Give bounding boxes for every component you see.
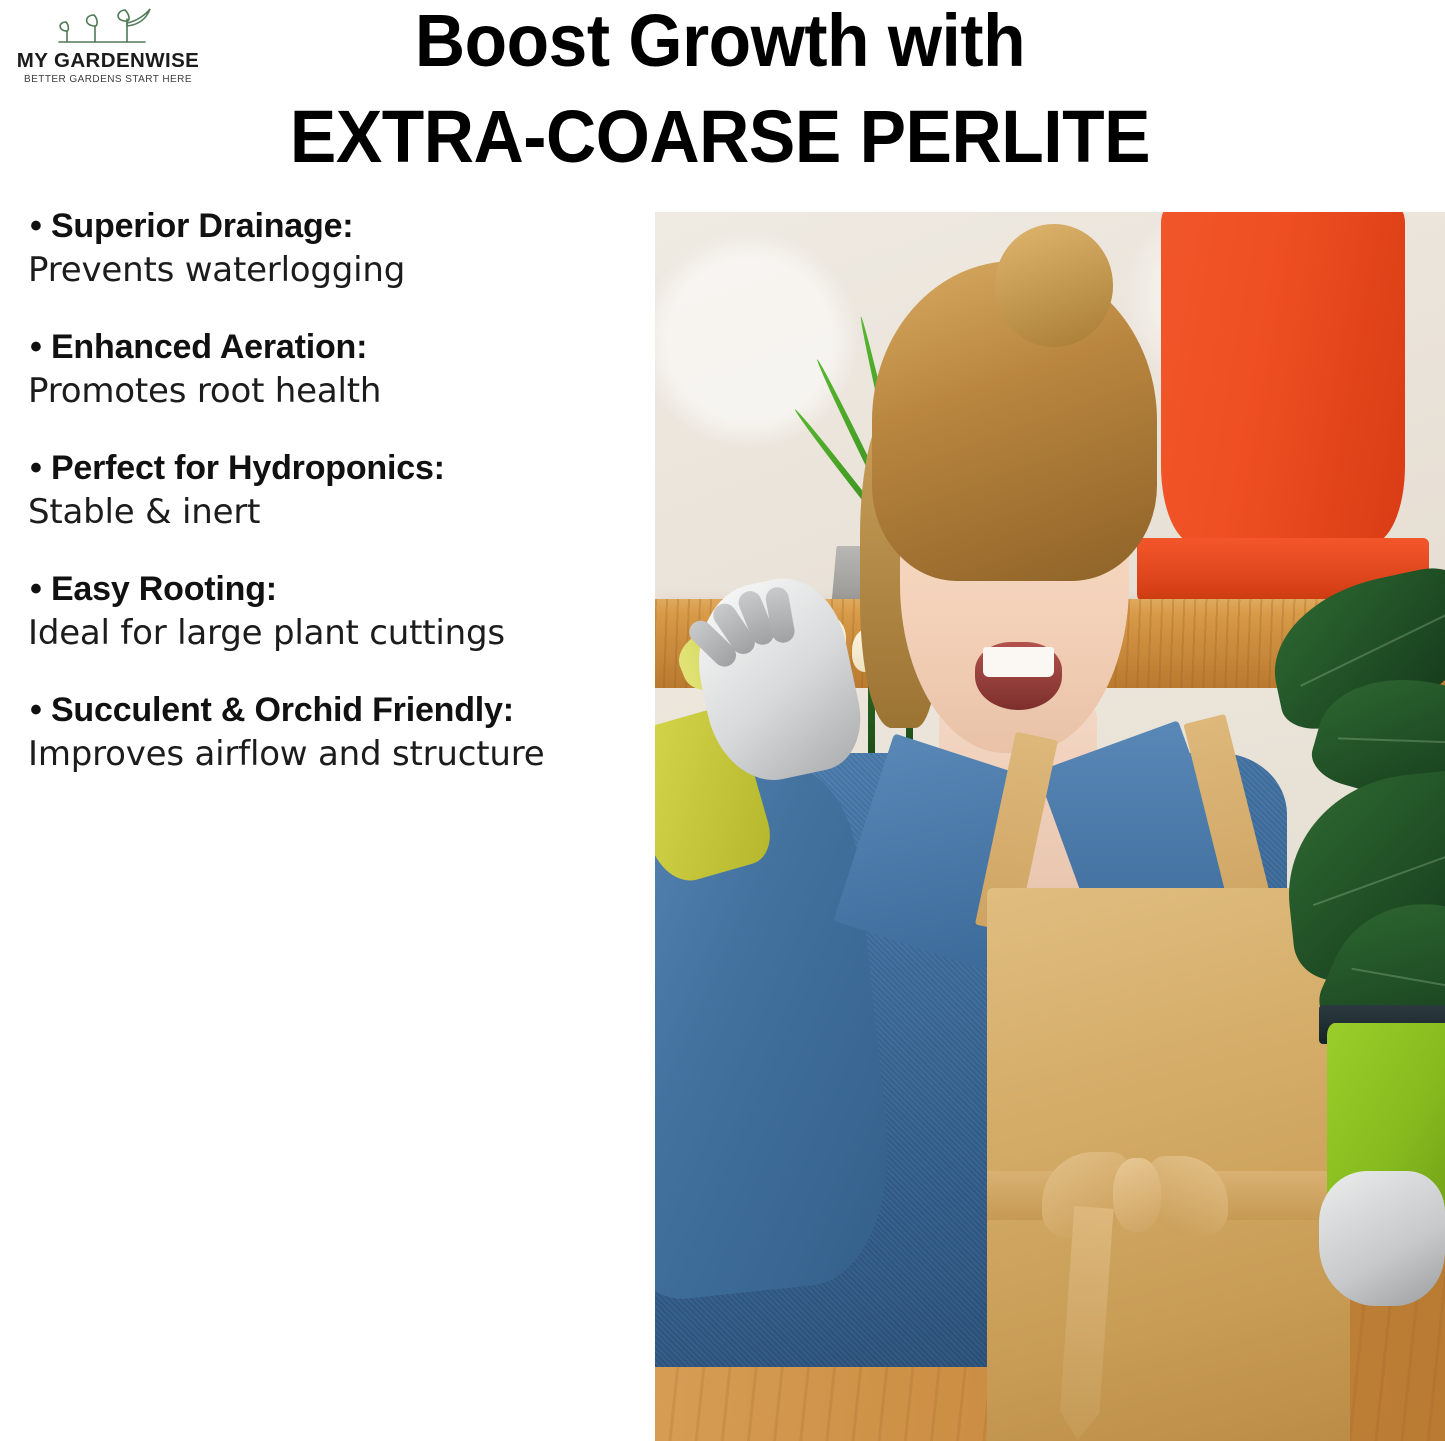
feature-title: • Succulent & Orchid Friendly: [0, 689, 640, 733]
list-item: • Superior Drainage: Prevents waterloggi… [0, 205, 640, 292]
feature-list: • Superior Drainage: Prevents waterloggi… [0, 205, 640, 776]
list-item: • Enhanced Aeration: Promotes root healt… [0, 326, 640, 413]
brand-name: MY GARDENWISE [8, 50, 208, 72]
list-item: • Succulent & Orchid Friendly: Improves … [0, 689, 640, 776]
headline-line-1: Boost Growth with [231, 0, 1209, 78]
feature-title: • Enhanced Aeration: [0, 326, 640, 370]
headline-line-2: EXTRA-COARSE PERLITE [231, 100, 1209, 174]
gardener-photo [655, 212, 1445, 1441]
feature-description: Prevents waterlogging [0, 249, 640, 293]
feature-description: Promotes root health [0, 370, 640, 414]
feature-description: Ideal for large plant cuttings [0, 612, 640, 656]
feature-title: • Superior Drainage: [0, 205, 640, 249]
apron-bow-knot [1113, 1158, 1160, 1232]
hair-bun [995, 224, 1114, 347]
list-item: • Perfect for Hydroponics: Stable & iner… [0, 447, 640, 534]
brand-tagline: BETTER GARDENS START HERE [8, 74, 208, 85]
feature-title: • Perfect for Hydroponics: [0, 447, 640, 491]
gardening-glove-right [1319, 1171, 1445, 1306]
terracotta-pot [1161, 212, 1406, 544]
page-title: Boost Growth with EXTRA-COARSE PERLITE [200, 0, 1240, 174]
feature-title: • Easy Rooting: [0, 568, 640, 612]
brand-logo: MY GARDENWISE BETTER GARDENS START HERE [8, 6, 208, 85]
teeth [983, 647, 1054, 676]
feature-description: Stable & inert [0, 491, 640, 535]
list-item: • Easy Rooting: Ideal for large plant cu… [0, 568, 640, 655]
three-sprouts-icon [53, 6, 163, 48]
feature-description: Improves airflow and structure [0, 733, 640, 777]
